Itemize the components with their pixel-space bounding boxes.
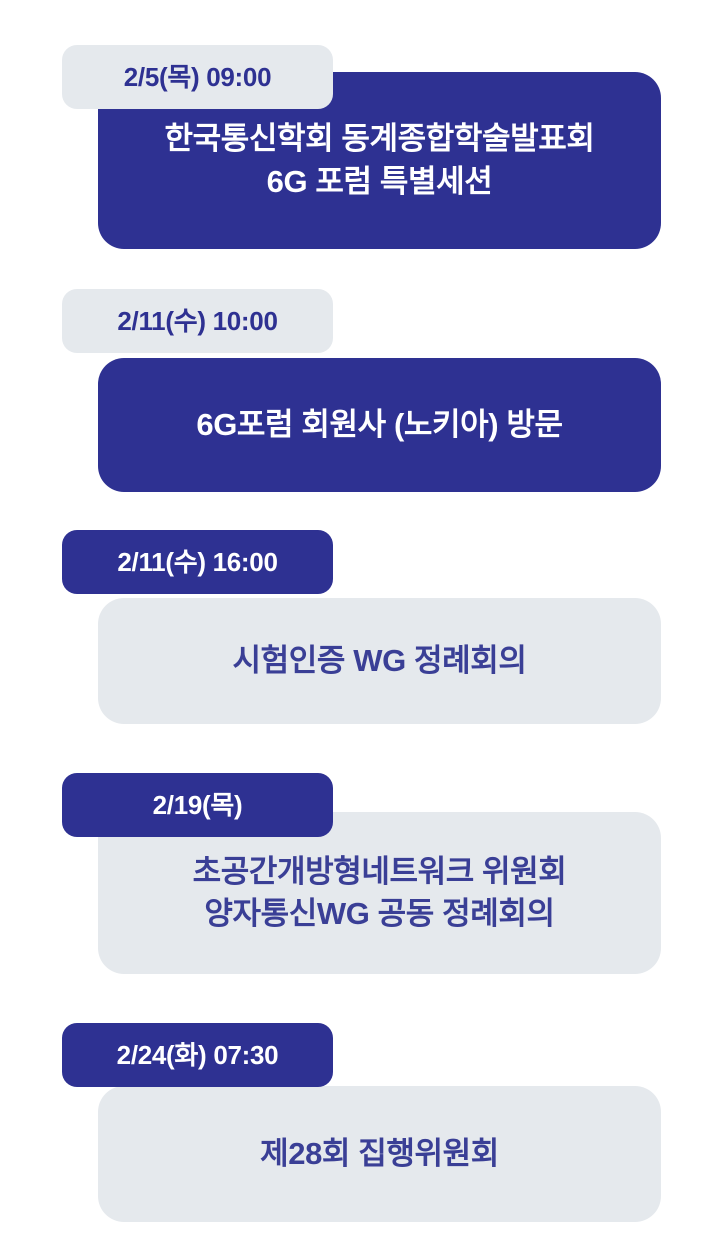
schedule-item[interactable]: 한국통신학회 동계종합학술발표회 6G 포럼 특별세션 2/5(목) 09:00 [0,0,720,270]
schedule-item-body[interactable]: 제28회 집행위원회 [98,1086,661,1222]
schedule-item-date-badge[interactable]: 2/19(목) [62,773,333,837]
schedule-item-date-label: 2/11(수) 10:00 [117,308,277,334]
schedule-item-date-label: 2/24(화) 07:30 [117,1042,279,1068]
schedule-item-title: 시험인증 WG 정례회의 [207,640,553,682]
schedule-item-date-label: 2/19(목) [153,792,243,818]
schedule-item-title: 한국통신학회 동계종합학술발표회 6G 포럼 특별세션 [138,118,620,202]
schedule-item-date-label: 2/5(목) 09:00 [124,64,272,90]
schedule-item-date-label: 2/11(수) 16:00 [117,549,277,575]
schedule-item-title: 제28회 집행위원회 [234,1133,525,1175]
schedule-item-date-badge[interactable]: 2/11(수) 10:00 [62,289,333,353]
schedule-item-date-badge[interactable]: 2/24(화) 07:30 [62,1023,333,1087]
schedule-item-title: 초공간개방형네트워크 위원회 양자통신WG 공동 정례회의 [167,851,593,935]
schedule-item-title: 6G포럼 회원사 (노키아) 방문 [170,404,588,446]
schedule-item-date-badge[interactable]: 2/5(목) 09:00 [62,45,333,109]
schedule-list: 한국통신학회 동계종합학술발표회 6G 포럼 특별세션 2/5(목) 09:00… [0,0,720,1252]
schedule-item-date-badge[interactable]: 2/11(수) 16:00 [62,530,333,594]
schedule-item-body[interactable]: 6G포럼 회원사 (노키아) 방문 [98,358,661,492]
schedule-item-body[interactable]: 시험인증 WG 정례회의 [98,598,661,724]
